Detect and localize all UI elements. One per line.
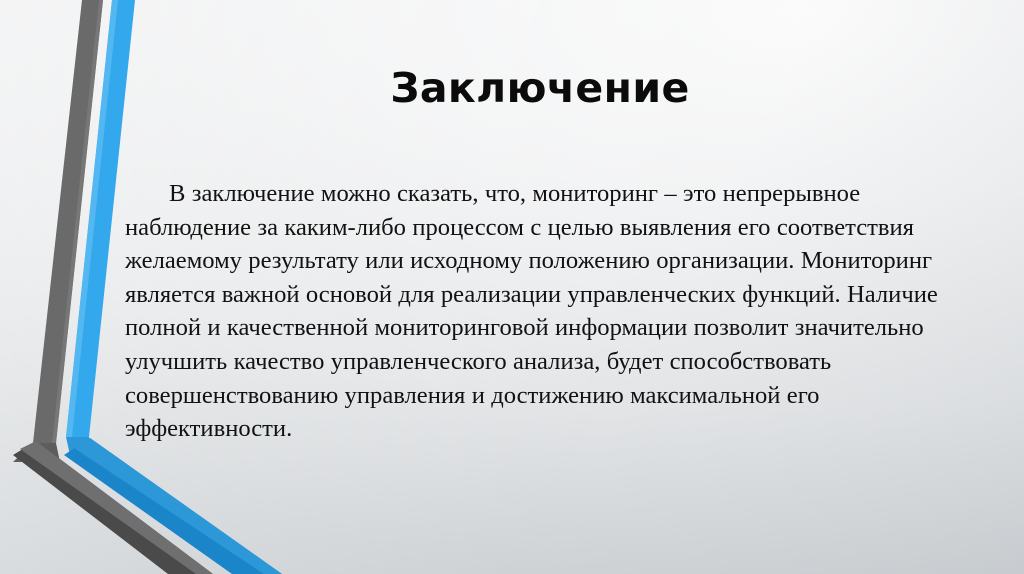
slide-canvas: Заключение В заключение можно сказать, ч… — [0, 0, 1024, 574]
body-block: В заключение можно сказать, что, монитор… — [125, 177, 945, 446]
page-title: Заключение — [230, 66, 850, 112]
title-block: Заключение — [230, 66, 850, 112]
body-paragraph: В заключение можно сказать, что, монитор… — [125, 177, 945, 446]
